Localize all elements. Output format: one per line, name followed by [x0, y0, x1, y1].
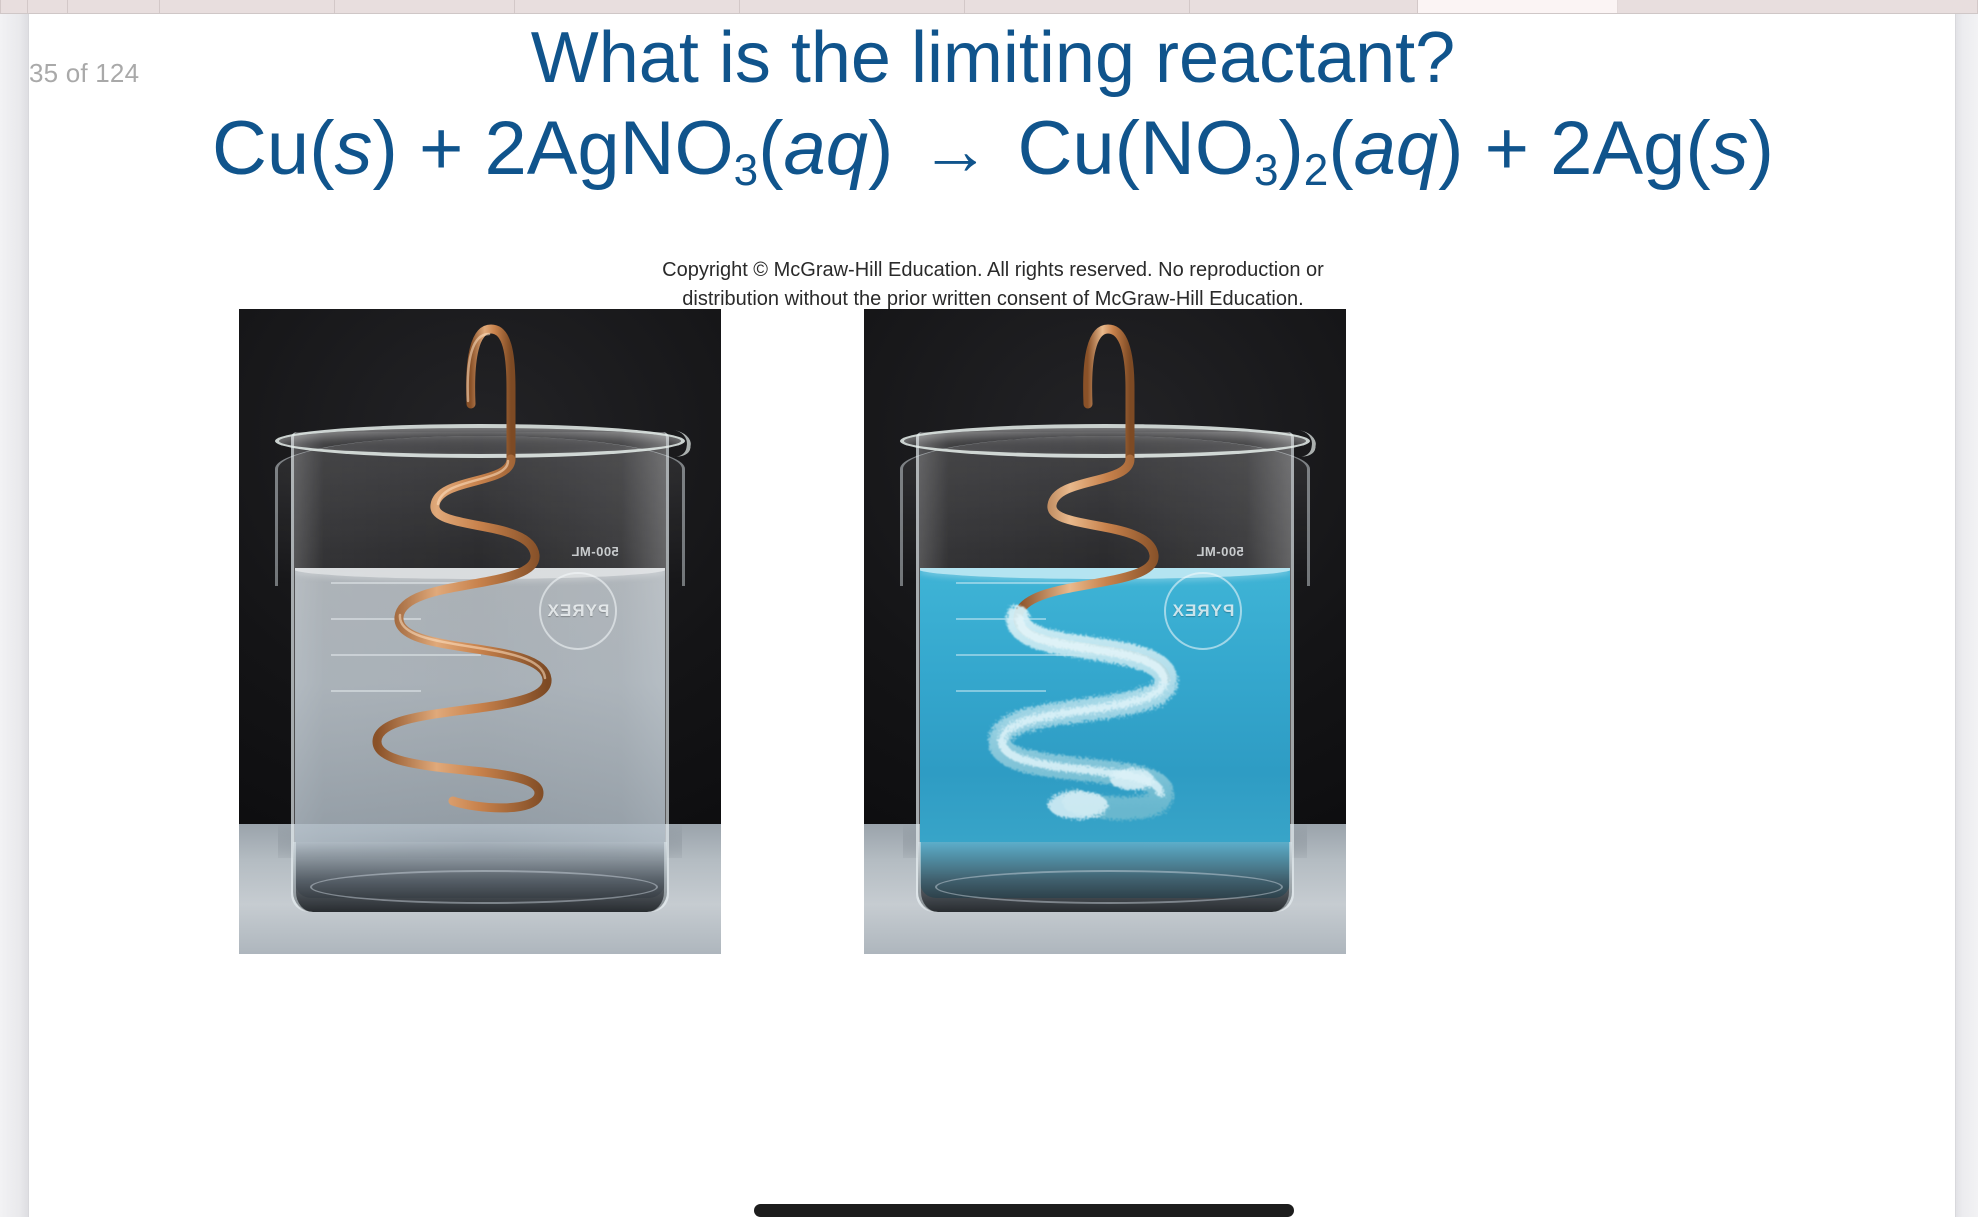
equation-token: aq [1354, 106, 1439, 191]
scrollbar-thumb[interactable] [754, 1204, 1294, 1217]
copper-coil-clean [239, 309, 721, 954]
equation-token: ) + 2AgNO [373, 106, 734, 191]
chemical-equation: Cu(s) + 2AgNO3(aq) → Cu(NO3)2(aq) + 2Ag(… [29, 109, 1956, 189]
equation-token: 3 [1254, 146, 1279, 195]
equation-token: ( [1328, 106, 1353, 191]
browser-tab-10[interactable] [1418, 0, 1618, 13]
equation-token: s [1711, 106, 1749, 191]
page-title: What is the limiting reactant? [29, 22, 1956, 95]
photo-before-reaction: 500-ML PYREX [239, 309, 721, 954]
browser-tab-strip[interactable] [0, 0, 1978, 14]
equation-token: ) [1749, 106, 1774, 191]
equation-token: 2 [1304, 146, 1329, 195]
photo-after-reaction: 500-ML PYREX [864, 309, 1346, 954]
equation-token: ) [1278, 106, 1303, 191]
equation-token: ( [758, 106, 783, 191]
equation-token: 3 [734, 146, 759, 195]
slide-page: 35 of 124 What is the limiting reactant?… [28, 14, 1956, 1217]
browser-tab-9[interactable] [1190, 0, 1418, 13]
equation-token: aq [784, 106, 869, 191]
horizontal-scrollbar[interactable] [57, 1202, 1956, 1217]
browser-tab-1[interactable] [0, 0, 28, 13]
silver-crystal-deposits [864, 309, 1346, 954]
browser-tab-2[interactable] [28, 0, 68, 13]
reaction-figure: 500-ML PYREX [29, 309, 1956, 969]
copyright-line-1: Copyright © McGraw-Hill Education. All r… [29, 256, 1956, 285]
equation-token: ) + 2Ag( [1438, 106, 1710, 191]
browser-tab-4[interactable] [160, 0, 335, 13]
browser-tab-8[interactable] [965, 0, 1190, 13]
equation-token: Cu(NO [996, 106, 1254, 191]
equation-token: s [335, 106, 373, 191]
page-gutter-right [1956, 14, 1978, 1217]
equation-token: → [914, 111, 996, 189]
browser-tab-3[interactable] [68, 0, 160, 13]
slide-viewer-window: 35 of 124 What is the limiting reactant?… [0, 0, 1978, 1217]
page-gutter-left [0, 14, 28, 1217]
browser-tab-6[interactable] [515, 0, 740, 13]
equation-token: ) [868, 106, 914, 191]
browser-tab-7[interactable] [740, 0, 965, 13]
browser-tab-11[interactable] [1618, 0, 1978, 13]
browser-tab-5[interactable] [335, 0, 515, 13]
equation-token: Cu( [212, 106, 334, 191]
copyright-notice: Copyright © McGraw-Hill Education. All r… [29, 256, 1956, 314]
